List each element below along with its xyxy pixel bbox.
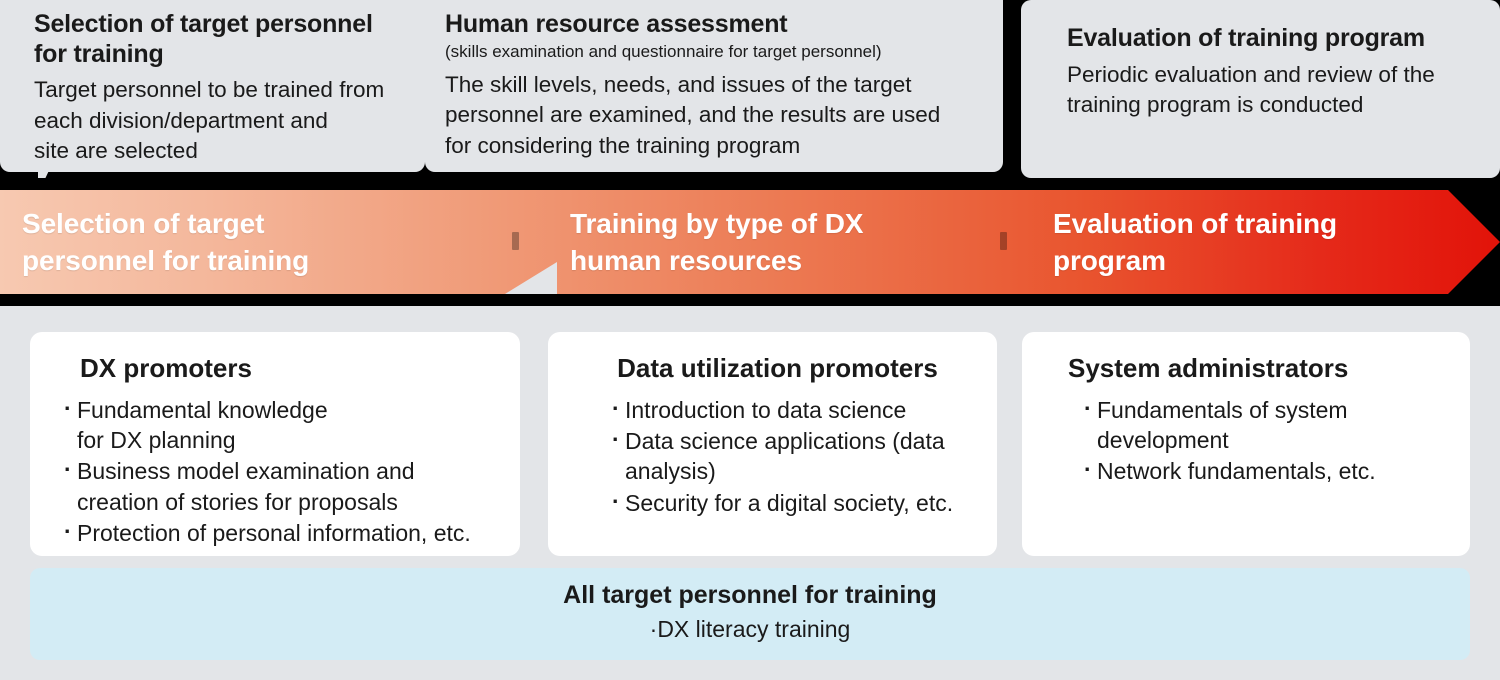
role-card-data-utilization-promoters: Data utilization promoters Introduction … (548, 332, 997, 556)
callout-title: Human resource assessment (445, 10, 987, 40)
callout-body-line: personnel are examined, and the results … (445, 100, 987, 131)
role-card-dx-promoters: DX promoters Fundamental knowledge for D… (30, 332, 520, 556)
list-item: Introduction to data science (612, 395, 979, 425)
list-item: Fundamental knowledge for DX planning (64, 395, 502, 456)
callout-body-line: Target personnel to be trained from (34, 75, 409, 106)
list-item: Data science applications (data analysis… (612, 426, 979, 487)
callout-body: The skill levels, needs, and issues of t… (445, 70, 987, 162)
list-item: Business model examination and creation … (64, 456, 502, 517)
role-card-bullets: Introduction to data science Data scienc… (576, 395, 979, 518)
callout-body-line: for considering the training program (445, 131, 987, 162)
callout-body-line: site are selected (34, 136, 409, 167)
callout-body: Target personnel to be trained from each… (34, 75, 409, 167)
process-arrow-band: Selection of target personnel for traini… (0, 178, 1500, 306)
gradient-arrow-shape: Selection of target personnel for traini… (0, 190, 1500, 294)
callout-body-line: each division/department and (34, 106, 409, 137)
arrow-segment-label: Training by type of DX human resources (570, 205, 863, 279)
segment-divider-icon (512, 232, 519, 250)
all-personnel-bar: All target personnel for training ·DX li… (30, 568, 1470, 660)
callout-row: Selection of target personnel for traini… (0, 0, 1500, 190)
role-card-system-administrators: System administrators Fundamentals of sy… (1022, 332, 1470, 556)
list-item: Protection of personal information, etc. (64, 518, 502, 548)
callout-body-line: training program is conducted (1067, 90, 1484, 121)
arrow-segment-label: Evaluation of training program (1053, 205, 1337, 279)
all-personnel-title: All target personnel for training (30, 580, 1470, 611)
list-item: Security for a digital society, etc. (612, 488, 979, 518)
list-item: Fundamentals of system development (1084, 395, 1452, 456)
callout-body-line: Periodic evaluation and review of the (1067, 60, 1484, 91)
diagram-root: Selection of target personnel for traini… (0, 0, 1500, 680)
arrow-segment-evaluation[interactable]: Evaluation of training program (1053, 190, 1453, 294)
role-card-bullets: Fundamental knowledge for DX planning Bu… (58, 395, 502, 549)
callout-tail-icon (505, 262, 557, 294)
callout-body-line: The skill levels, needs, and issues of t… (445, 70, 987, 101)
role-card-title: DX promoters (58, 352, 502, 385)
arrow-segment-training[interactable]: Training by type of DX human resources (570, 190, 1010, 294)
all-personnel-item: ·DX literacy training (30, 615, 1470, 645)
callout-body: Periodic evaluation and review of the tr… (1067, 60, 1484, 121)
arrow-segment-selection[interactable]: Selection of target personnel for traini… (22, 190, 492, 294)
role-card-title: System administrators (1050, 352, 1452, 385)
callout-box-selection: Selection of target personnel for traini… (0, 0, 425, 172)
callout-title: Selection of target personnel for traini… (34, 10, 409, 69)
callout-subtitle: (skills examination and questionnaire fo… (445, 42, 987, 62)
role-card-title: Data utilization promoters (576, 352, 979, 385)
role-card-bullets: Fundamentals of system development Netwo… (1050, 395, 1452, 487)
callout-box-evaluation: Evaluation of training program Periodic … (1021, 0, 1500, 178)
callout-box-assessment: Human resource assessment (skills examin… (425, 0, 1003, 172)
list-item: Network fundamentals, etc. (1084, 456, 1452, 486)
callout-title: Evaluation of training program (1067, 24, 1484, 54)
arrow-segment-label: Selection of target personnel for traini… (22, 205, 309, 279)
